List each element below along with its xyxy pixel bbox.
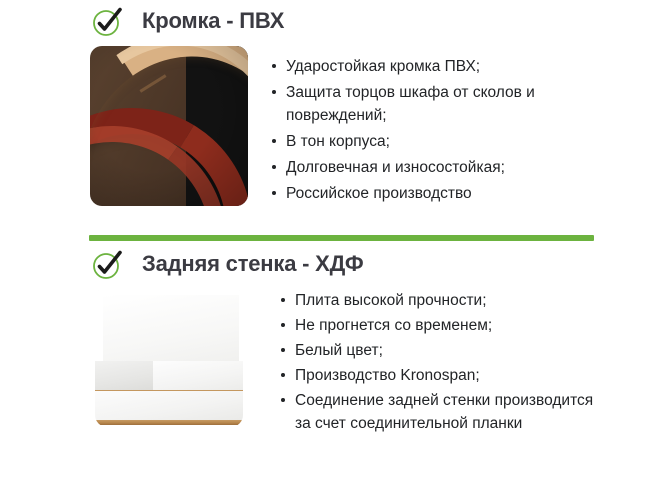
list-item: Защита торцов шкафа от сколов и поврежде… [272, 81, 602, 127]
list-item: Долговечная и износостойкая; [272, 156, 602, 179]
list-item: Российское производство [272, 182, 602, 205]
section-body-back: Плита высокой прочности; Не прогнется со… [0, 285, 652, 463]
list-item: В тон корпуса; [272, 130, 602, 153]
list-item: Не прогнется со временем; [281, 314, 611, 337]
feature-list-edge: Ударостойкая кромка ПВХ; Защита торцов ш… [272, 55, 602, 208]
section-heading-back: Задняя стенка - ХДФ [89, 243, 652, 285]
hdf-panel-image [95, 287, 243, 427]
section-heading-edge: Кромка - ПВХ [89, 0, 652, 42]
edge-banding-image [90, 46, 248, 206]
list-item: Белый цвет; [281, 339, 611, 362]
list-item: Производство Kronospan; [281, 364, 611, 387]
section-back-panel-hdf: Задняя стенка - ХДФ [0, 243, 652, 463]
hdf-panel-artwork [95, 287, 243, 427]
section-title-back: Задняя стенка - ХДФ [142, 251, 363, 277]
feature-list-back: Плита высокой прочности; Не прогнется со… [281, 289, 611, 437]
section-title-edge: Кромка - ПВХ [142, 8, 284, 34]
list-item: Плита высокой прочности; [281, 289, 611, 312]
edge-banding-artwork [90, 46, 248, 206]
feature-list-page: Кромка - ПВХ Ударос [0, 0, 652, 500]
section-edge-pvc: Кромка - ПВХ Ударос [0, 0, 652, 220]
green-divider [89, 235, 594, 241]
list-item: Соединение задней стенки производится за… [281, 389, 611, 435]
check-circle-icon [91, 247, 125, 281]
section-body-edge: Ударостойкая кромка ПВХ; Защита торцов ш… [0, 42, 652, 220]
check-circle-icon [91, 4, 125, 38]
list-item: Ударостойкая кромка ПВХ; [272, 55, 602, 78]
